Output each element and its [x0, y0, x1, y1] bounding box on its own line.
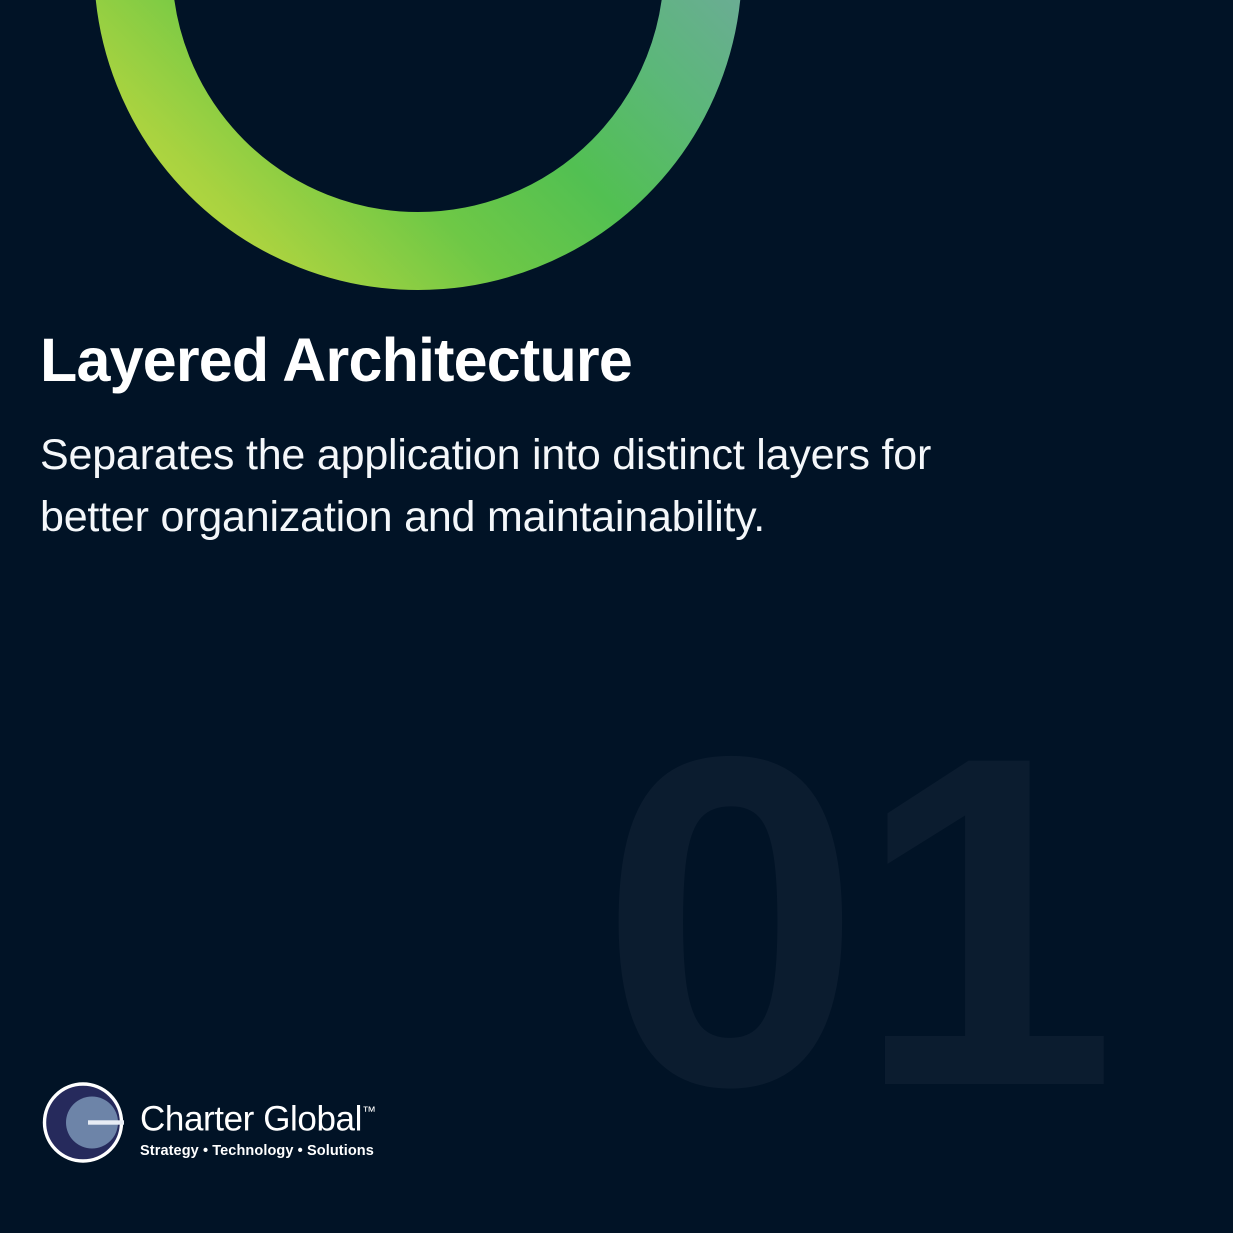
logo-wordmark-text: Charter Global [140, 1100, 362, 1139]
logo-wordmark-group: Charter Global™ Strategy • Technology • … [140, 1088, 376, 1160]
slide-number-watermark: 01 [600, 712, 1070, 1132]
charter-global-circle-mark-icon [40, 1081, 126, 1167]
logo-lockup: Charter Global™ Strategy • Technology • … [40, 1081, 376, 1167]
logo-wordmark: Charter Global™ [140, 1094, 376, 1139]
trademark-symbol: ™ [362, 1103, 376, 1119]
text-block: Layered Architecture Separates the appli… [40, 322, 1040, 548]
logo-tagline: Strategy • Technology • Solutions [140, 1142, 376, 1160]
slide-canvas: 01 Layered Architecture Separates the ap… [0, 0, 1233, 1233]
page-description: Separates the application into distinct … [40, 424, 970, 548]
page-title: Layered Architecture [40, 322, 1040, 398]
